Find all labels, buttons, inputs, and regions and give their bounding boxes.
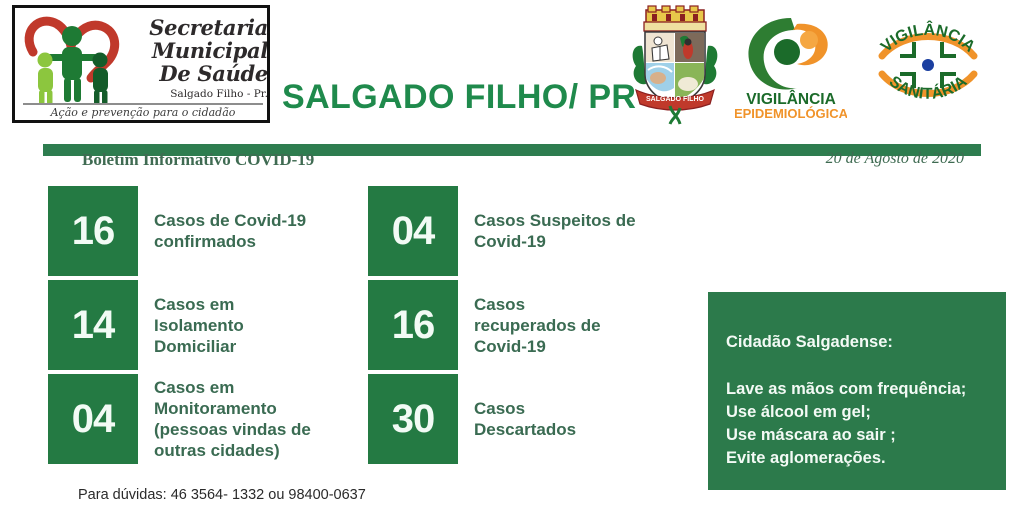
page-title: SALGADO FILHO/ PR (282, 78, 636, 117)
stat-value: 04 (368, 186, 458, 276)
advice-line: Lave as mãos com frequência; (726, 378, 1006, 401)
stat-item: 30 Casos Descartados (368, 374, 698, 464)
stat-value: 04 (48, 374, 138, 464)
bulletin-label: Boletim Informativo COVID-19 (82, 150, 314, 170)
advice-title: Cidadão Salgadense: (726, 332, 1006, 352)
secretaria-municipal-de-saude-logo: Secretaria Municipal De Saúde Salgado Fi… (12, 5, 270, 123)
stat-item: 04 Casos em Monitoramento (pessoas vinda… (48, 374, 378, 464)
secretaria-logo-line1: Secretaria (133, 16, 268, 39)
secretaria-logo-line3: De Saúde (133, 62, 268, 85)
stat-value: 16 (368, 280, 458, 370)
stat-label: Casos em Isolamento Domiciliar (154, 280, 378, 370)
statistics-grid: 16 Casos de Covid-19 confirmados 14 Caso… (0, 186, 700, 474)
advice-panel: Cidadão Salgadense: Lave as mãos com fre… (708, 292, 1006, 490)
secretaria-logo-line2: Municipal (133, 39, 268, 62)
stat-value: 16 (48, 186, 138, 276)
advice-line: Use máscara ao sair ; (726, 424, 1006, 447)
vigilancia-sanitaria-artwork: VIGILÂNCIA SANITÁRIA (858, 4, 998, 124)
secretaria-logo-city: Salgado Filho - Pr. (135, 88, 268, 100)
stat-value: 14 (48, 280, 138, 370)
bulletin-date: 20 de Agosto de 2020 (826, 150, 964, 168)
stat-label: Casos Suspeitos de Covid-19 (474, 186, 714, 276)
stat-item: 16 Casos recuperados de Covid-19 (368, 280, 698, 370)
stat-label: Casos recuperados de Covid-19 (474, 280, 714, 370)
stat-value: 30 (368, 374, 458, 464)
stat-item: 04 Casos Suspeitos de Covid-19 (368, 186, 698, 276)
vigilancia-epidemiologica-logo: VIGILÂNCIA EPIDEMIOLÓGICA (735, 6, 847, 122)
stat-label: Casos em Monitoramento (pessoas vindas d… (154, 374, 378, 464)
covid-bulletin-page: Secretaria Municipal De Saúde Salgado Fi… (0, 0, 1024, 512)
stat-item: 14 Casos em Isolamento Domiciliar (48, 280, 378, 370)
coat-of-arms-artwork: SALGADO FILHO (622, 4, 728, 128)
stat-label: Casos Descartados (474, 374, 714, 464)
page-header: Secretaria Municipal De Saúde Salgado Fi… (0, 0, 1024, 138)
sanit-logo-line2: SANITÁRIA (886, 73, 971, 103)
vigilancia-sanitaria-logo: VIGILÂNCIA SANITÁRIA (858, 4, 998, 124)
secretaria-logo-slogan: Ação e prevenção para o cidadão (23, 106, 263, 119)
epi-logo-line2: EPIDEMIOLÓGICA (735, 106, 847, 121)
advice-line: Use álcool em gel; (726, 401, 1006, 424)
statistics-column-1: 16 Casos de Covid-19 confirmados 14 Caso… (48, 186, 378, 474)
svg-text:SALGADO FILHO: SALGADO FILHO (646, 96, 704, 103)
secretaria-logo-divider (23, 103, 263, 105)
advice-line: Evite aglomerações. (726, 447, 1006, 470)
salgado-filho-coat-of-arms: SALGADO FILHO (622, 4, 728, 128)
sanit-logo-line1: VIGILÂNCIA (878, 20, 978, 56)
secretaria-logo-text: Secretaria Municipal De Saúde (133, 16, 268, 85)
contact-footer: Para dúvidas: 46 3564- 1332 ou 98400-063… (78, 487, 366, 503)
statistics-column-2: 04 Casos Suspeitos de Covid-19 16 Casos … (368, 186, 698, 474)
stat-label: Casos de Covid-19 confirmados (154, 186, 378, 276)
stat-item: 16 Casos de Covid-19 confirmados (48, 186, 378, 276)
vigilancia-epidemiologica-artwork: VIGILÂNCIA EPIDEMIOLÓGICA (735, 6, 847, 122)
